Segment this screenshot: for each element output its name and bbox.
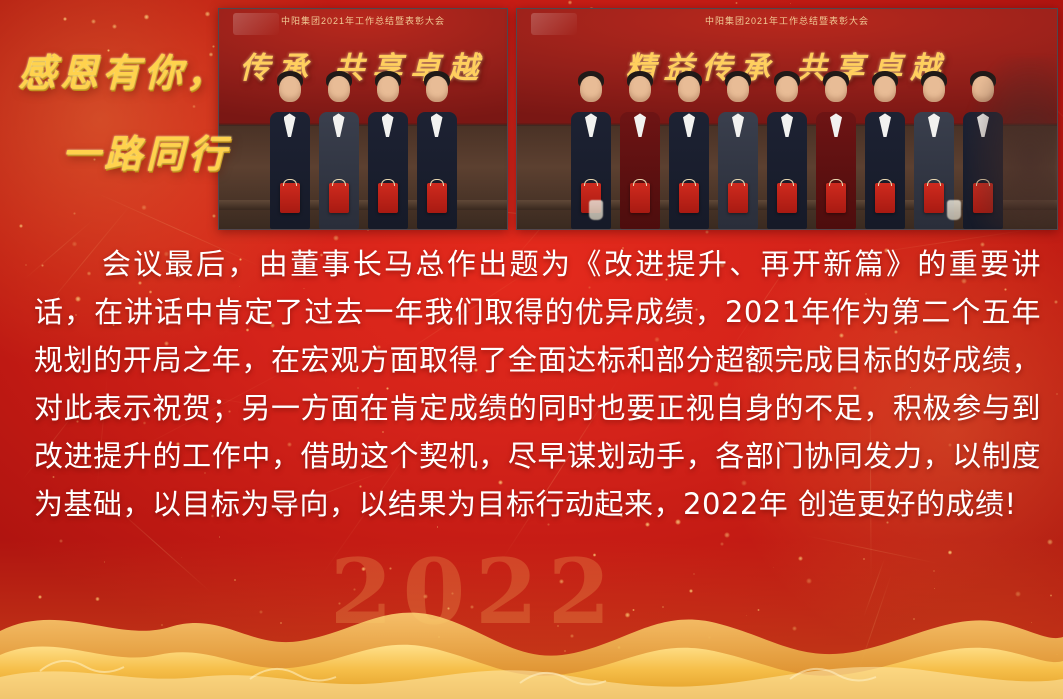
watermark-number: 2022 <box>330 539 621 645</box>
golden-cloud-band <box>0 579 1063 699</box>
paragraph-text: 会议最后，由董事长马总作出题为《改进提升、再开新篇》的重要讲话，在讲话中肯定了过… <box>34 247 1041 521</box>
people-group-1 <box>219 66 507 229</box>
photo-award-group-2: 中阳集团2021年工作总结暨表彰大会 精益传承 共享卓越 <box>516 8 1058 230</box>
poster-canvas: 感恩有你， 一路同行 中阳集团2021年工作总结暨表彰大会 传承 共享卓越 <box>0 0 1063 699</box>
stage-backdrop-2: 中阳集团2021年工作总结暨表彰大会 精益传承 共享卓越 <box>517 9 1057 229</box>
banner-small-text-2: 中阳集团2021年工作总结暨表彰大会 <box>517 14 1057 27</box>
cup-object <box>947 200 961 220</box>
cup-object <box>589 200 603 220</box>
banner-small-text-1: 中阳集团2021年工作总结暨表彰大会 <box>219 14 507 27</box>
cloud-shape-icon <box>0 579 1063 699</box>
stage-backdrop-1: 中阳集团2021年工作总结暨表彰大会 传承 共享卓越 <box>219 9 507 229</box>
body-paragraph: 会议最后，由董事长马总作出题为《改进提升、再开新篇》的重要讲话，在讲话中肯定了过… <box>34 240 1041 528</box>
bottom-glow <box>0 539 1063 699</box>
photo-row: 中阳集团2021年工作总结暨表彰大会 传承 共享卓越 中阳集团2021年工作总结… <box>218 8 1058 230</box>
photo-award-group-1: 中阳集团2021年工作总结暨表彰大会 传承 共享卓越 <box>218 8 508 230</box>
foreground-blur-person <box>967 57 1057 229</box>
